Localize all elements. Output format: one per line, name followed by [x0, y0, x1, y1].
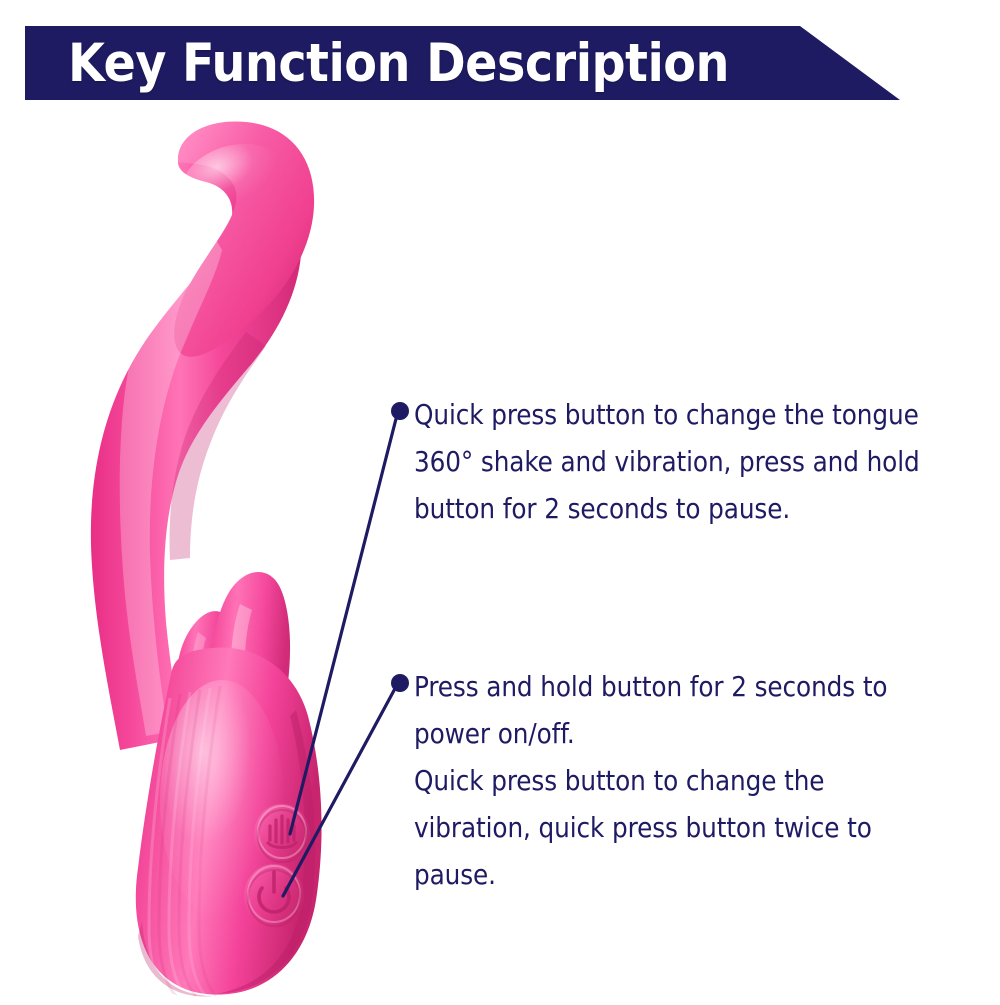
power-button[interactable] — [244, 864, 304, 928]
vibration-button[interactable] — [254, 804, 310, 864]
callout-text-tongue: Quick press button to change the tongue … — [414, 392, 944, 533]
callout-text-power: Press and hold button for 2 seconds to p… — [414, 664, 944, 899]
infographic-canvas: Key Function Description — [0, 0, 1000, 1000]
product-illustration — [0, 110, 420, 1000]
page-title: Key Function Description — [68, 26, 828, 100]
product-image — [0, 110, 420, 1000]
